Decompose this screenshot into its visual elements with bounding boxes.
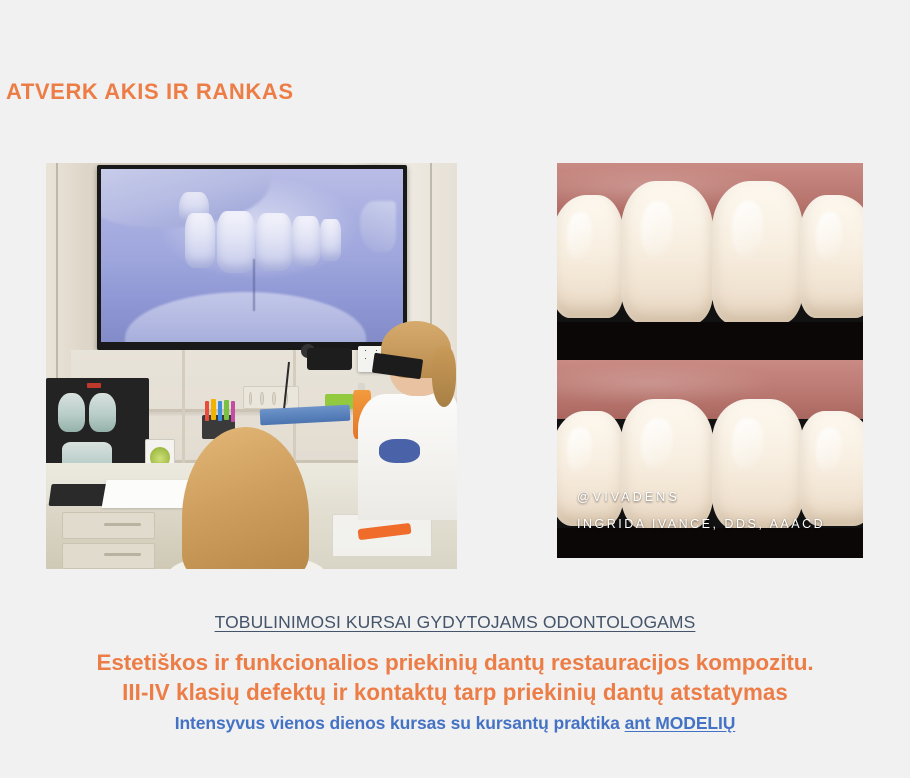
socket: [249, 392, 253, 405]
wall-outlet: [243, 386, 298, 408]
drawer-handle[interactable]: [104, 523, 141, 526]
tooth: [799, 411, 863, 526]
wall-seam: [56, 163, 58, 398]
pen: [205, 401, 210, 421]
screen-tooth: [320, 219, 341, 260]
course-link[interactable]: TOBULINIMOSI KURSAI GYDYTOJAMS ODONTOLOG…: [0, 612, 910, 633]
tooth-highlight: [732, 418, 763, 470]
tooth: [621, 399, 713, 530]
screen-lower-gum: [125, 292, 366, 342]
tooth-highlight: [816, 427, 842, 473]
drawer-handle[interactable]: [104, 553, 141, 556]
course-subtitle: Intensyvus vienos dienos kursas su kursa…: [0, 713, 910, 734]
xray-image: [58, 393, 85, 432]
page-title: ATVERK AKIS IR RANKAS: [6, 79, 294, 105]
course-title-line-1: Estetiškos ir funkcionalios priekinių da…: [0, 650, 910, 676]
tooth: [621, 181, 713, 324]
tooth-highlight: [732, 201, 763, 258]
teeth-photo-before: [557, 163, 863, 361]
tooth: [712, 181, 804, 324]
photo-black-band: [557, 528, 863, 558]
pen: [218, 401, 223, 421]
socket: [272, 392, 276, 405]
pen: [231, 401, 236, 421]
screen-cheek-retractor: [360, 201, 396, 253]
course-title-line-2: III-IV klasių defektų ir kontaktų tarp p…: [14, 679, 897, 706]
teeth-before-after-photo: @VIVADENS INGRIDA IVANCE, DDS, AAACD: [557, 163, 863, 558]
xray-image: [89, 393, 116, 432]
photo-black-band: [557, 322, 863, 362]
watermark-handle: @VIVADENS: [577, 490, 680, 504]
tooth: [557, 195, 624, 318]
pen: [211, 399, 216, 419]
lab-scene: [46, 163, 457, 569]
dentist-ponytail: [432, 346, 457, 407]
tooth: [712, 399, 804, 530]
screen-tooth: [217, 211, 255, 273]
tooth: [799, 195, 863, 318]
tooth-highlight: [816, 212, 842, 261]
watermark-author: INGRIDA IVANCE, DDS, AAACD: [577, 517, 825, 531]
socket: [260, 392, 264, 405]
screen-tooth-gap: [253, 259, 255, 311]
tooth-highlight: [567, 212, 592, 261]
screen-tooth: [292, 216, 319, 266]
pen: [224, 400, 229, 420]
tooth: [557, 411, 624, 526]
monitor-screen: [101, 169, 403, 341]
tooth-highlight: [641, 418, 672, 470]
camera-head: [307, 348, 352, 370]
wall-monitor: [97, 165, 407, 350]
screen-tooth: [256, 213, 292, 272]
screen-tooth: [185, 213, 215, 268]
xray-clip: [87, 383, 101, 388]
gum-tissue: [557, 360, 863, 419]
dental-lab-photo: [46, 163, 457, 569]
gloved-hand: [379, 439, 420, 463]
caption-block: TOBULINIMOSI KURSAI GYDYTOJAMS ODONTOLOG…: [0, 612, 910, 734]
shelf-divider: [182, 350, 185, 464]
course-subtitle-emphasis[interactable]: ant MODELIŲ: [625, 713, 736, 733]
tooth-highlight: [641, 201, 672, 258]
course-subtitle-prefix: Intensyvus vienos dienos kursas su kursa…: [175, 713, 625, 733]
tooth-highlight: [567, 427, 592, 473]
